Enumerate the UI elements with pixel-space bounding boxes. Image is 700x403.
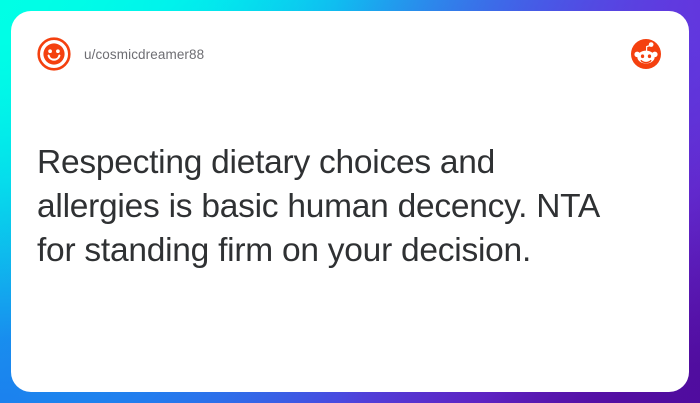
- post-body-line: for standing firm on your decision.: [37, 229, 659, 273]
- post-body-line: Respecting dietary choices and: [37, 141, 659, 185]
- card-header: u/cosmicdreamer88: [11, 11, 689, 97]
- smiley-face-avatar-icon[interactable]: [37, 37, 71, 71]
- user-identity-block[interactable]: u/cosmicdreamer88: [37, 37, 631, 71]
- reddit-snoo-logo-icon[interactable]: [631, 39, 661, 69]
- post-body-line: allergies is basic human decency. NTA: [37, 185, 659, 229]
- screenshot-canvas: u/cosmicdreamer88 Respecting: [0, 0, 700, 403]
- post-body-text: Respecting dietary choices and allergies…: [37, 141, 659, 273]
- reddit-comment-card: u/cosmicdreamer88 Respecting: [11, 11, 689, 392]
- username-label: u/cosmicdreamer88: [84, 47, 204, 62]
